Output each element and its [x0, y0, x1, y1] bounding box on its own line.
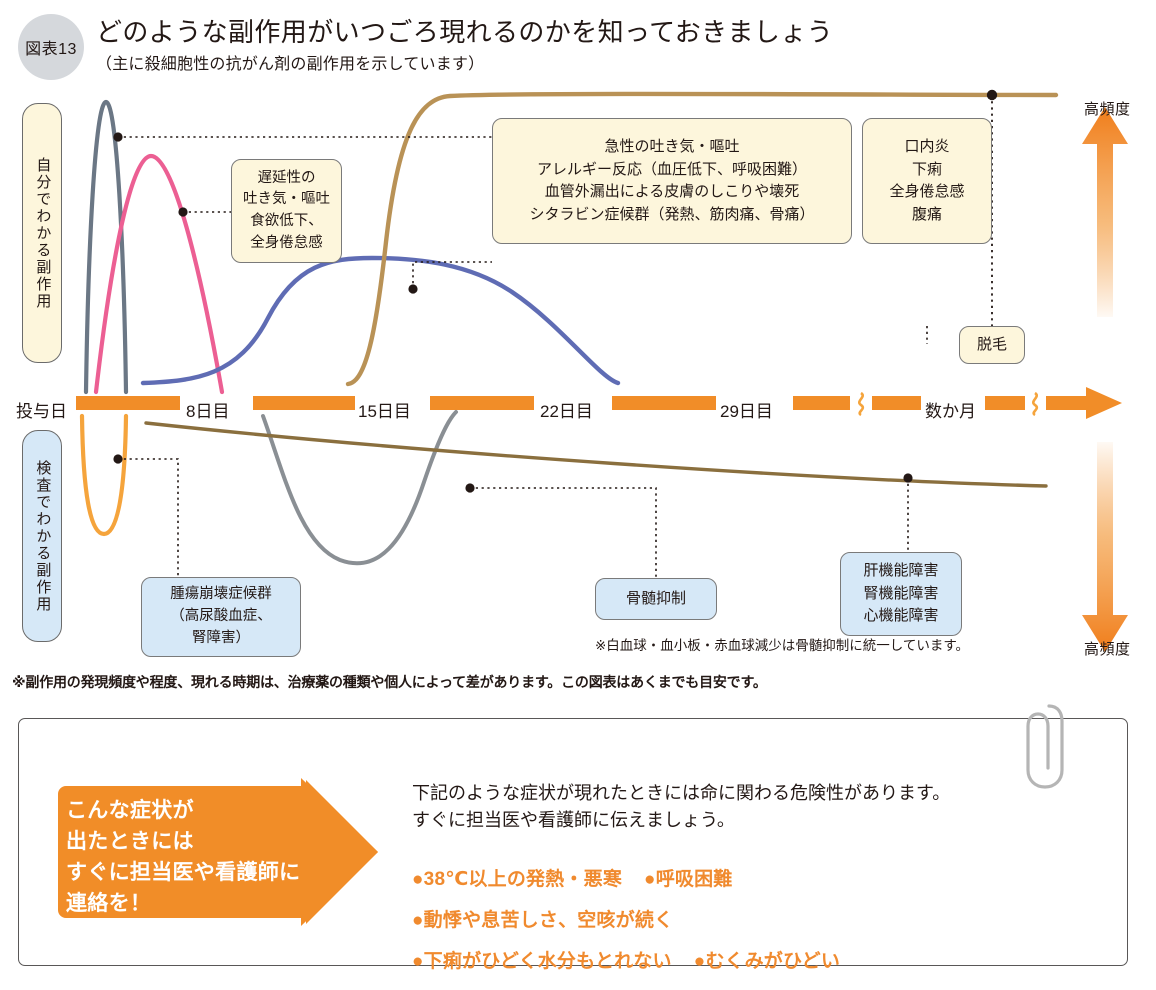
timeline-label-day8: 8日目 — [186, 397, 229, 422]
curve-tumor-lysis — [82, 416, 126, 534]
callout-acute-reactions: 急性の吐き気・嘔吐 アレルギー反応（血圧低下、呼吸困難） 血管外漏出による皮膚の… — [492, 118, 852, 244]
callout-tumor-lysis: 腫瘍崩壊症候群 （高尿酸血症、 腎障害） — [141, 577, 301, 657]
callout-mucositis: 口内炎 下痢 全身倦怠感 腹痛 — [862, 118, 992, 244]
leader-delayed — [178, 207, 231, 216]
call-to-action-text: こんな症状が 出たときには すぐに担当医や看護師に 連絡を！ — [66, 795, 316, 919]
callout-delayed-nausea: 遅延性の 吐き気・嘔吐 食欲低下、 全身倦怠感 — [231, 159, 342, 263]
paperclip-icon — [1018, 700, 1064, 792]
frequency-label-top: 高頻度 — [1084, 98, 1131, 119]
symptom-item: ●下痢がひどく水分もとれない — [412, 951, 672, 972]
frequency-label-bottom: 高頻度 — [1084, 638, 1131, 659]
callout-marrow: 骨髄抑制 — [595, 578, 717, 620]
leader-organ — [903, 473, 912, 552]
timeline-label-day29: 29日目 — [720, 397, 773, 422]
category-self-observed: 自分でわかる副作用 — [22, 103, 62, 363]
callout-organ-damage: 肝機能障害 腎機能障害 心機能障害 — [840, 552, 962, 636]
timeline-label-day0: 投与日 — [16, 397, 67, 422]
frequency-arrow-down-icon — [1082, 442, 1128, 652]
symptom-item: ●むくみがひどい — [694, 951, 840, 972]
infographic-page: 図表13 どのような副作用がいつごろ現れるのかを知っておきましょう （主に殺細胞… — [0, 0, 1156, 990]
curve-acute — [86, 102, 126, 392]
symptom-row-1: ●38℃以上の発熱・悪寒●呼吸困難 — [412, 864, 733, 891]
frequency-arrow-up-icon — [1082, 107, 1128, 317]
symptom-item: ●呼吸困難 — [644, 869, 732, 890]
page-title: どのような副作用がいつごろ現れるのかを知っておきましょう — [96, 12, 833, 49]
symptom-row-2: ●動悸や息苦しさ、空咳が続く — [412, 905, 673, 932]
marrow-note: ※白血球・血小板・赤血球減少は骨髄抑制に統一しています。 — [595, 634, 969, 654]
call-to-action-arrow: こんな症状が 出たときには すぐに担当医や看護師に 連絡を！ — [56, 778, 386, 926]
timeline-label-day15: 15日目 — [358, 397, 411, 422]
panel-lead-text: 下記のような症状が現れたときには命に関わる危険性があります。 すぐに担当医や看護… — [412, 780, 1102, 835]
chart-footnote: ※副作用の発現頻度や程度、現れる時期は、治療薬の種類や個人によって差があります。… — [12, 672, 767, 692]
callout-alopecia: 脱毛 — [959, 326, 1025, 364]
leader-acute — [113, 132, 492, 141]
timeline-label-months: 数か月 — [925, 397, 976, 422]
curve-delayed — [96, 156, 222, 392]
timeline-label-day22: 22日目 — [540, 397, 593, 422]
figure-number-badge: 図表13 — [18, 14, 84, 80]
symptom-item: ●動悸や息苦しさ、空咳が続く — [412, 910, 673, 931]
page-subtitle: （主に殺細胞性の抗がん剤の副作用を示しています） — [96, 50, 484, 74]
category-lab-detected: 検査でわかる副作用 — [22, 430, 62, 642]
curve-marrow-suppression — [263, 412, 456, 563]
symptom-item: ●38℃以上の発熱・悪寒 — [412, 869, 622, 890]
symptom-row-3: ●下痢がひどく水分もとれない●むくみがひどい — [412, 946, 840, 973]
leader-marrow — [465, 483, 656, 578]
